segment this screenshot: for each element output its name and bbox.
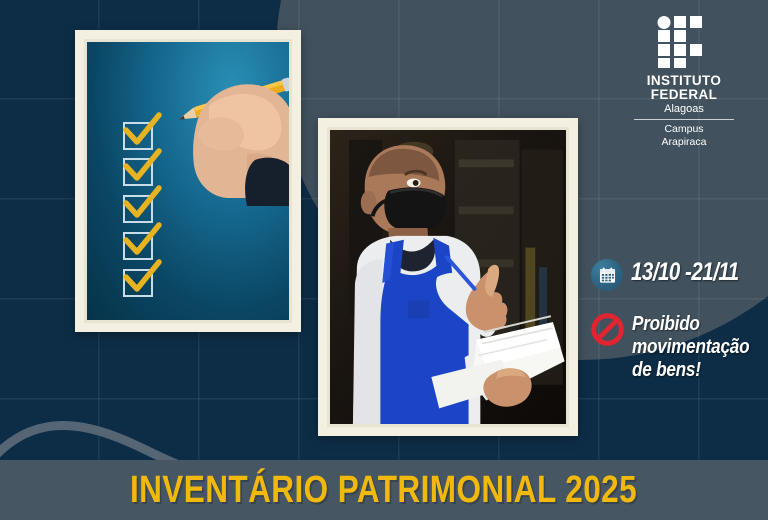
warning-row: Proibido movimentação de bens! — [591, 313, 768, 383]
logo-divider — [634, 119, 734, 120]
hand-with-pencil-illustration — [143, 56, 292, 206]
logo-campus-name: Arapiraca — [628, 136, 740, 149]
worker-artwork — [330, 130, 566, 424]
warning-text: Proibido movimentação de bens! — [632, 313, 749, 383]
poster-title: INVENTÁRIO PATRIMONIAL 2025 — [130, 469, 637, 512]
checkmark-5 — [120, 259, 162, 295]
footer-bar: INVENTÁRIO PATRIMONIAL 2025 — [0, 460, 768, 520]
no-entry-icon — [591, 313, 624, 346]
info-block: 13/10 -21/11 Proibido movimentação de be… — [591, 256, 768, 383]
logo-campus-label: Campus — [628, 123, 740, 136]
checkmark-4 — [120, 222, 162, 258]
instituto-federal-if-mark-icon — [657, 16, 711, 68]
checklist-artwork — [87, 42, 289, 320]
warning-line-3: de bens! — [632, 359, 749, 382]
poster-canvas: INSTITUTO FEDERAL Alagoas Campus Arapira… — [0, 0, 768, 520]
warning-line-1: Proibido — [632, 313, 749, 336]
worker-image-frame — [318, 118, 578, 436]
checklist-frame-inner — [84, 39, 292, 323]
institution-logo: INSTITUTO FEDERAL Alagoas Campus Arapira… — [628, 16, 740, 149]
worker-frame-inner — [327, 127, 569, 427]
logo-institute-line-1: INSTITUTO — [628, 74, 740, 88]
checklist-image-frame — [75, 30, 301, 332]
logo-institute-line-2: FEDERAL — [628, 88, 740, 102]
date-range-row: 13/10 -21/11 — [591, 256, 768, 291]
worker-illustration — [330, 130, 566, 424]
calendar-icon — [591, 259, 623, 291]
warning-line-2: movimentação — [632, 336, 749, 359]
date-range-text: 13/10 -21/11 — [631, 256, 739, 290]
logo-state: Alagoas — [628, 103, 740, 117]
